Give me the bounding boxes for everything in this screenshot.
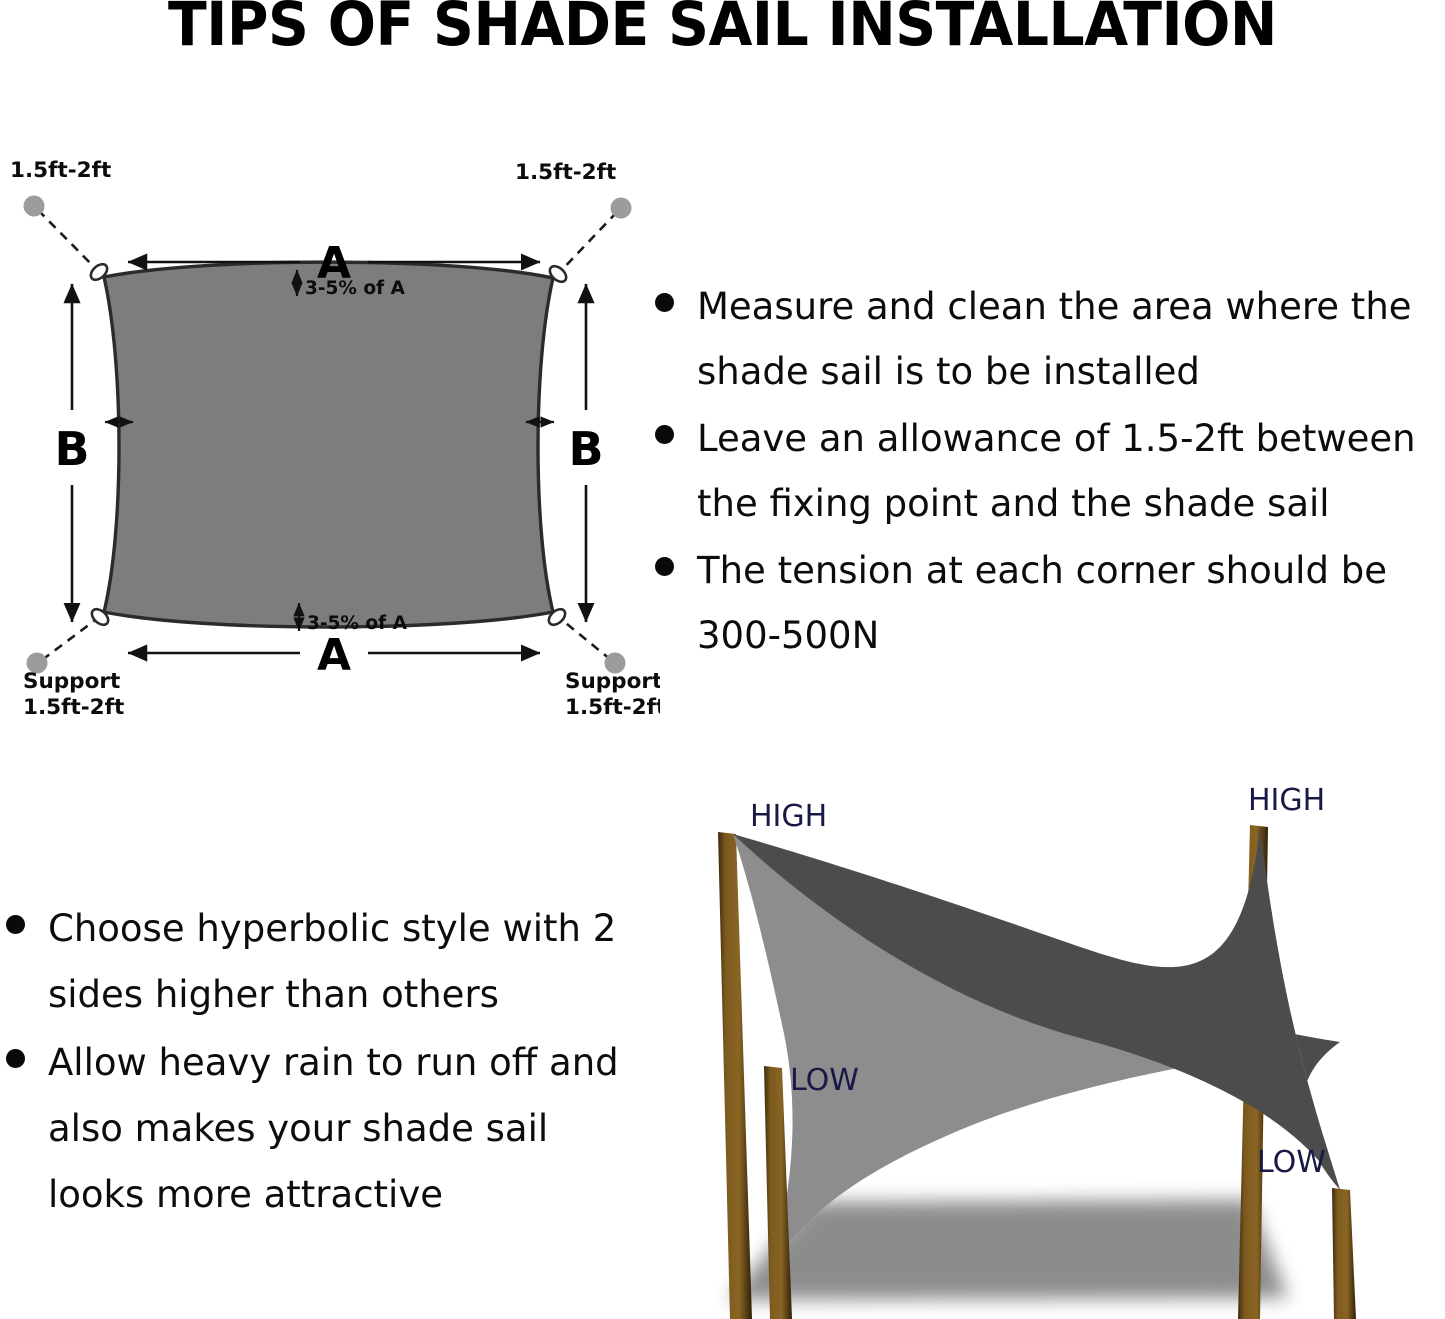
support-label-bottom-left-line1: Support (23, 669, 120, 694)
support-label-bottom-right-line1: Support (565, 669, 660, 694)
tip-text: Leave an allowance of 1.5-2ft between th… (697, 406, 1445, 536)
label-high-right: HIGH (1248, 783, 1325, 818)
dimension-label-bottom-A: A (317, 630, 351, 681)
dimension-label-left-B: B (54, 422, 89, 476)
tip-text: The tension at each corner should be 300… (697, 538, 1445, 668)
tip-text: Choose hyperbolic style with 2 sides hig… (48, 896, 625, 1028)
support-label-top-left-line2: 1.5ft-2ft (10, 160, 111, 183)
bullet-dot-icon (655, 293, 674, 312)
support-label-top-right-line2: 1.5ft-2ft (515, 160, 616, 185)
curve-label-top: 3-5% of A (305, 278, 406, 299)
list-item: Measure and clean the area where the sha… (645, 274, 1445, 404)
label-low-right: LOW (1257, 1145, 1326, 1180)
installation-tips-list-bottom-left: Choose hyperbolic style with 2 sides hig… (0, 896, 625, 1230)
support-label-bottom-left-line2: 1.5ft-2ft (23, 695, 124, 720)
bullet-dot-icon (6, 915, 25, 934)
label-high-left: HIGH (750, 799, 827, 834)
tip-text: Allow heavy rain to run off and also mak… (48, 1030, 625, 1228)
list-item: Leave an allowance of 1.5-2ft between th… (645, 406, 1445, 536)
bullet-dot-icon (655, 557, 674, 576)
rect-sail-diagram: A A B B 3-5% of A (0, 160, 660, 740)
tip-text: Measure and clean the area where the sha… (697, 274, 1445, 404)
dimension-bottom-A: A (128, 630, 540, 681)
label-low-left: LOW (790, 1063, 859, 1098)
list-item: The tension at each corner should be 300… (645, 538, 1445, 668)
dimension-right-B: B (568, 284, 603, 622)
support-label-bottom-right-line2: 1.5ft-2ft (565, 695, 660, 720)
bullet-dot-icon (655, 425, 674, 444)
bullet-dot-icon (6, 1049, 25, 1068)
hyperbolic-sail-illustration: HIGH HIGH LOW LOW (640, 770, 1445, 1319)
infographic-page: TIPS OF SHADE SAIL INSTALLATION (0, 0, 1445, 1319)
dimension-left-B: B (54, 284, 89, 622)
page-title: TIPS OF SHADE SAIL INSTALLATION (51, 0, 1395, 56)
dimension-label-right-B: B (568, 422, 603, 476)
installation-tips-list-right: Measure and clean the area where the sha… (645, 274, 1445, 670)
list-item: Choose hyperbolic style with 2 sides hig… (0, 896, 625, 1028)
shade-sail-shape (104, 262, 553, 627)
list-item: Allow heavy rain to run off and also mak… (0, 1030, 625, 1228)
curve-label-bottom: 3-5% of A (307, 613, 408, 634)
